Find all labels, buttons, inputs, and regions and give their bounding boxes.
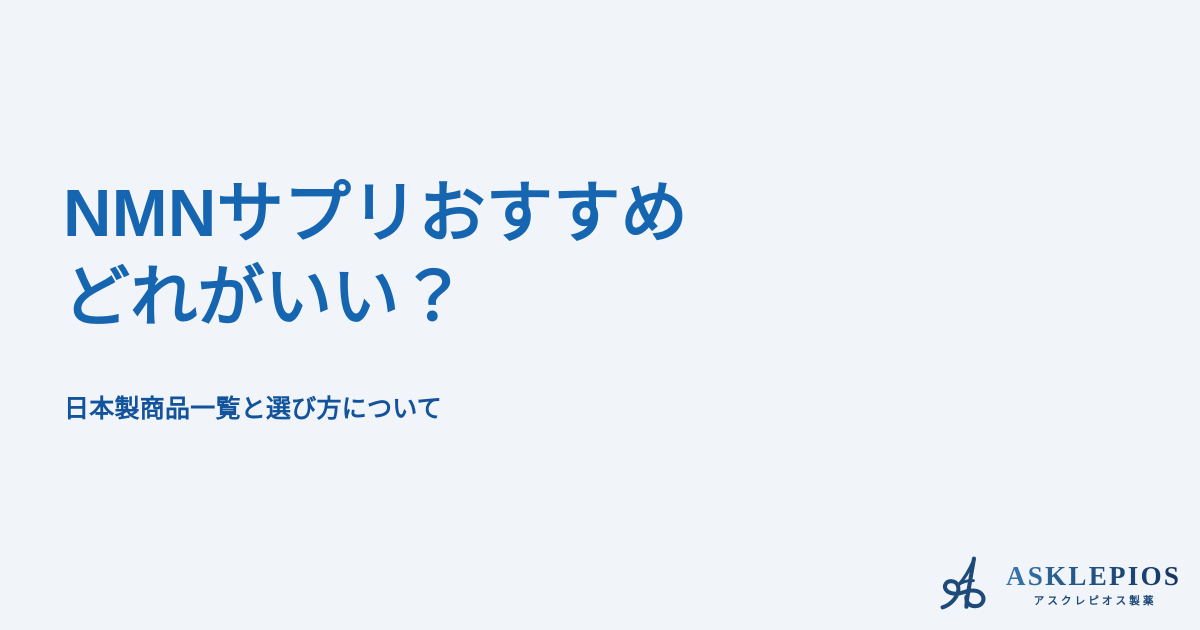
page-title-line-2: どれがいい？ [63,256,1063,340]
page-title: NMNサプリおすすめ どれがいい？ [63,172,1063,341]
page-title-line-1: NMNサプリおすすめ [63,172,1063,256]
page-subtitle: 日本製商品一覧と選び方について [64,392,442,427]
brand-tagline: アスクレピオス製薬 [1031,596,1157,607]
brand-wordmark: ASKLEPIOS [1006,563,1181,590]
brand-logo: ASKLEPIOS アスクレピオス製薬 [938,551,1182,615]
brand-logo-text: ASKLEPIOS アスクレピオス製薬 [1006,560,1181,607]
og-card: NMNサプリおすすめ どれがいい？ 日本製商品一覧と選び方について ASKLEP… [0,0,1200,630]
asklepios-serpent-monogram-icon [938,554,996,612]
